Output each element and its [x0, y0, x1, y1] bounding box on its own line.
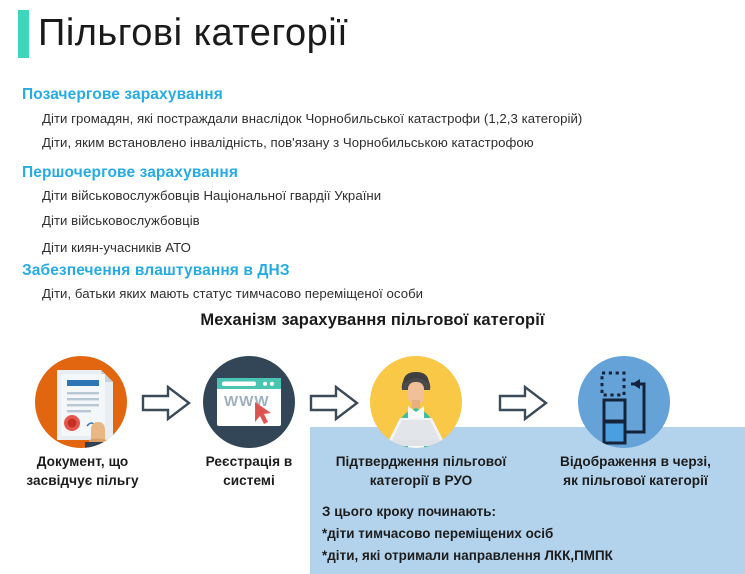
- node-label-line: Відображення в черзі,: [528, 452, 743, 471]
- section-item: Діти громадян, які постраждали внаслідок…: [42, 111, 582, 126]
- node-label-registration: Реєстрація в системі: [180, 452, 318, 490]
- section-heading-priority-first: Першочергове зарахування: [22, 164, 238, 182]
- diagram-title: Механізм зарахування пільгової категорії: [0, 311, 745, 330]
- section-heading-placement-support: Забезпечення влаштування в ДНЗ: [22, 262, 290, 280]
- browser-window-www-icon: WWW: [203, 356, 295, 448]
- queue-flow-icon: [578, 356, 670, 448]
- node-label-line: Документ, що: [0, 452, 165, 471]
- person-at-laptop-icon: [370, 356, 462, 448]
- section-item: Діти військовослужбовців: [42, 213, 200, 228]
- node-label-line: Підтвердження пільгової: [316, 452, 526, 471]
- slide-canvas: Пільгові категорії Позачергове зарахуван…: [0, 0, 745, 574]
- node-label-confirmation: Підтвердження пільгової категорії в РУО: [316, 452, 526, 490]
- section-item: Діти військовослужбовців Національної гв…: [42, 188, 381, 203]
- node-circle-confirmation: [370, 356, 462, 448]
- arrow-right-icon-3: [497, 383, 549, 423]
- section-heading-priority-out-of-turn: Позачергове зарахування: [22, 86, 223, 104]
- page-title: Пільгові категорії: [38, 8, 348, 58]
- panel-notes: З цього кроку починають: *діти тимчасово…: [322, 501, 613, 567]
- document-with-seal-icon: [35, 356, 127, 448]
- panel-note-line: З цього кроку починають:: [322, 501, 613, 523]
- panel-note-line: *діти, які отримали направлення ЛКК,ПМПК: [322, 545, 613, 567]
- node-label-line: як пільгової категорії: [528, 471, 743, 490]
- section-item: Діти киян-учасників АТО: [42, 240, 191, 255]
- node-label-line: системі: [180, 471, 318, 490]
- node-label-document: Документ, що засвідчує пільгу: [0, 452, 165, 490]
- node-label-line: категорії в РУО: [316, 471, 526, 490]
- arrow-right-icon-2: [308, 383, 360, 423]
- node-circle-registration: WWW: [203, 356, 295, 448]
- panel-note-line: *діти тимчасово переміщених осіб: [322, 523, 613, 545]
- section-item: Діти, батьки яких мають статус тимчасово…: [42, 286, 423, 301]
- section-item: Діти, яким встановлено інвалідність, пов…: [42, 135, 534, 150]
- node-label-line: засвідчує пільгу: [0, 471, 165, 490]
- node-label-queue-display: Відображення в черзі, як пільгової катег…: [528, 452, 743, 490]
- node-circle-queue-display: [578, 356, 670, 448]
- title-accent-bar: [18, 10, 29, 58]
- node-circle-document: [35, 356, 127, 448]
- arrow-right-icon-1: [140, 383, 192, 423]
- node-label-line: Реєстрація в: [180, 452, 318, 471]
